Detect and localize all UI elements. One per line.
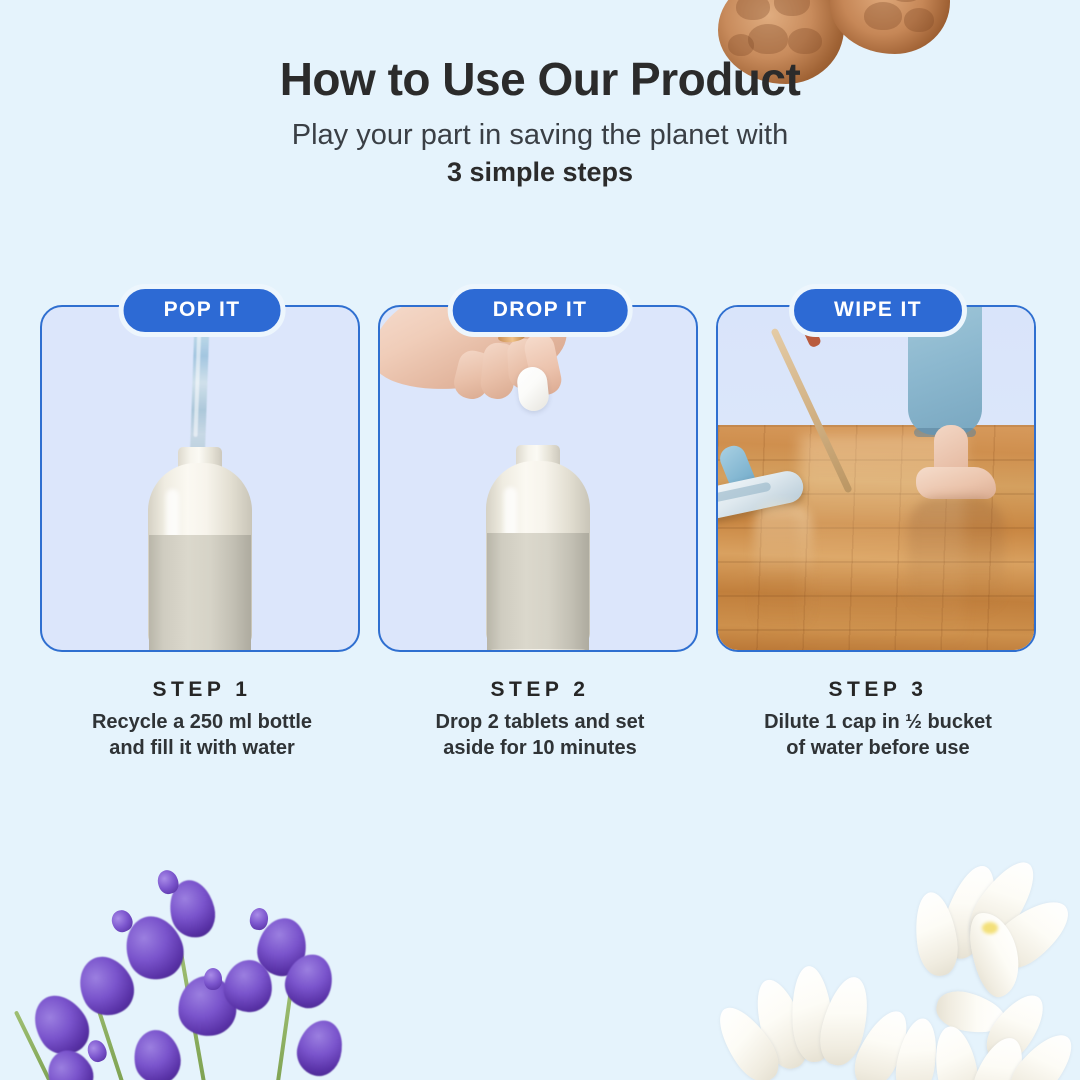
step-1-image-card (40, 305, 360, 652)
infographic-page: How to Use Our Product Play your part in… (0, 0, 1080, 1080)
step-3-label: STEP 3 (708, 678, 1048, 701)
step-2-badge[interactable]: DROP IT (448, 284, 633, 337)
page-title: How to Use Our Product (0, 56, 1080, 102)
subtitle-line-1: Play your part in saving the planet with (0, 120, 1080, 150)
flower-center (982, 922, 998, 934)
bare-foot (916, 467, 996, 499)
step-1-caption: STEP 1 Recycle a 250 ml bottle and fill … (32, 678, 372, 761)
bottle-pour-illustration (42, 307, 358, 650)
step-2-text-line-1: Drop 2 tablets and set (370, 710, 710, 736)
step-2-label: STEP 2 (370, 678, 710, 701)
step-2-caption: STEP 2 Drop 2 tablets and set aside for … (370, 678, 710, 761)
step-3-badge[interactable]: WIPE IT (789, 284, 967, 337)
mopping-photo (718, 307, 1034, 650)
step-2-text-line-2: aside for 10 minutes (370, 736, 710, 762)
step-2-image-card (378, 305, 698, 652)
white-flower-decoration (730, 850, 1080, 1080)
step-1-text-line-1: Recycle a 250 ml bottle (32, 710, 372, 736)
bottle-label (487, 533, 589, 652)
step-3-text-line-1: Dilute 1 cap in ½ bucket (708, 710, 1048, 736)
steps-row: POP IT STEP 1 Recycle a 250 ml bottle an… (0, 284, 1080, 784)
subtitle-line-2: 3 simple steps (0, 158, 1080, 186)
bottle-base (150, 651, 250, 652)
step-3-caption: STEP 3 Dilute 1 cap in ½ bucket of water… (708, 678, 1048, 761)
foot-reflection (908, 497, 1004, 617)
step-1-label: STEP 1 (32, 678, 372, 701)
step-3-text-line-2: of water before use (708, 736, 1048, 762)
hand-drop-tablet-illustration (380, 307, 696, 650)
step-1-badge[interactable]: POP IT (119, 284, 286, 337)
step-3-image-card (716, 305, 1036, 652)
step-1-text-line-2: and fill it with water (32, 736, 372, 762)
lavender-decoration (28, 844, 448, 1080)
header: How to Use Our Product Play your part in… (0, 56, 1080, 187)
bottle-base (488, 649, 588, 652)
bottle-label (149, 535, 251, 652)
pine-cone (830, 0, 950, 54)
wet-floor-streak (754, 503, 812, 633)
